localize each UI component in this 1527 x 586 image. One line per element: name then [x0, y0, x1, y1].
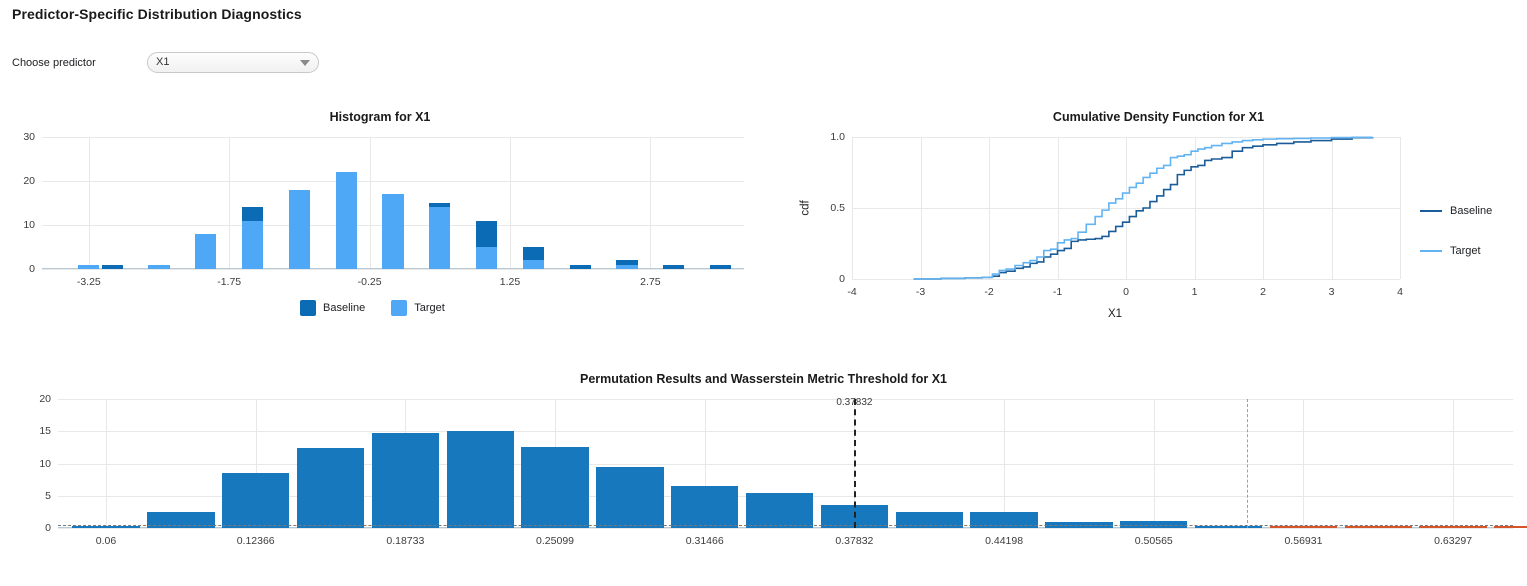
permutation-bar — [521, 447, 588, 528]
permutation-bar — [596, 467, 663, 528]
permutation-bar — [1195, 526, 1262, 528]
permutation-bar — [372, 433, 439, 528]
permutation-plot-area: 051015200.060.123660.187330.250990.31466… — [58, 399, 1513, 528]
histogram-legend-item: Baseline — [300, 300, 365, 316]
predictor-label: Choose predictor — [12, 57, 147, 69]
histogram-bar — [663, 265, 684, 269]
permutation-bar — [1494, 526, 1527, 528]
histogram-vgridline — [510, 137, 511, 269]
histogram-bar — [289, 190, 310, 269]
histogram-legend-label: Target — [414, 302, 445, 314]
diagnostics-page: Predictor-Specific Distribution Diagnost… — [0, 0, 1527, 586]
cdf-legend-item: Target — [1420, 245, 1492, 257]
cdf-y-tick: 0.5 — [830, 202, 845, 214]
predictor-select[interactable]: X1 — [147, 52, 319, 73]
cdf-vgridline — [1400, 137, 1401, 279]
histogram-bar — [476, 247, 497, 269]
permutation-y-tick: 5 — [45, 490, 51, 502]
permutation-bar — [447, 431, 514, 528]
permutation-vgridline — [1154, 399, 1155, 528]
histogram-x-tick: 2.75 — [640, 276, 660, 288]
permutation-bar — [671, 486, 738, 528]
permutation-x-tick: 0.18733 — [386, 535, 424, 547]
cdf-x-tick: -1 — [1053, 286, 1062, 298]
cdf-x-tick: 4 — [1397, 286, 1403, 298]
cdf-chart: Cumulative Density Function for X1 00.51… — [790, 110, 1527, 330]
permutation-threshold-label: 0.37832 — [836, 397, 872, 408]
permutation-x-tick: 0.12366 — [237, 535, 275, 547]
permutation-threshold-line — [854, 399, 856, 528]
cdf-x-tick: 0 — [1123, 286, 1129, 298]
cdf-lines — [852, 137, 1400, 279]
histogram-legend-label: Baseline — [323, 302, 365, 314]
cdf-legend-item: Baseline — [1420, 205, 1492, 217]
permutation-y-tick: 0 — [45, 522, 51, 534]
histogram-vgridline — [229, 137, 230, 269]
cdf-y-tick: 0 — [839, 273, 845, 285]
cdf-legend: BaselineTarget — [1420, 205, 1492, 285]
legend-color-line — [1420, 250, 1442, 252]
page-title: Predictor-Specific Distribution Diagnost… — [12, 6, 302, 22]
permutation-bar — [1419, 526, 1486, 528]
histogram-legend-item: Target — [391, 300, 445, 316]
permutation-bar — [1345, 526, 1412, 528]
permutation-gridline — [58, 399, 1513, 400]
histogram-bar — [242, 221, 263, 269]
cdf-x-tick: 3 — [1329, 286, 1335, 298]
histogram-bar — [429, 207, 450, 269]
permutation-vgridline — [106, 399, 107, 528]
cdf-y-axis-label: cdf — [800, 200, 812, 215]
histogram-bar — [336, 172, 357, 269]
permutation-x-tick: 0.50565 — [1135, 535, 1173, 547]
histogram-gridline — [42, 181, 744, 182]
cdf-x-tick: -3 — [916, 286, 925, 298]
permutation-x-tick: 0.31466 — [686, 535, 724, 547]
histogram-y-tick: 20 — [23, 175, 35, 187]
histogram-x-tick: -1.75 — [217, 276, 241, 288]
histogram-y-tick: 30 — [23, 131, 35, 143]
cdf-y-tick: 1.0 — [830, 131, 845, 143]
permutation-chart: Permutation Results and Wasserstein Metr… — [0, 372, 1527, 586]
predictor-select-value: X1 — [156, 57, 294, 68]
histogram-title: Histogram for X1 — [0, 110, 760, 124]
cdf-x-axis-label: X1 — [1108, 308, 1122, 320]
permutation-gridline — [58, 464, 1513, 465]
permutation-gridline — [58, 528, 1513, 529]
permutation-vgridline — [1004, 399, 1005, 528]
permutation-bar — [222, 473, 289, 528]
histogram-bar — [78, 265, 99, 269]
histogram-gridline — [42, 269, 744, 270]
histogram-vgridline — [650, 137, 651, 269]
permutation-y-tick: 10 — [39, 458, 51, 470]
histogram-bar — [523, 260, 544, 269]
cdf-x-tick: 2 — [1260, 286, 1266, 298]
legend-color-swatch — [300, 300, 316, 316]
histogram-y-tick: 0 — [29, 263, 35, 275]
chevron-down-icon — [300, 60, 310, 66]
histogram-x-tick: -0.25 — [358, 276, 382, 288]
cdf-legend-label: Baseline — [1450, 205, 1492, 217]
histogram-vgridline — [89, 137, 90, 269]
histogram-bar — [616, 265, 637, 269]
histogram-bar — [382, 194, 403, 269]
cdf-x-tick: -4 — [847, 286, 856, 298]
permutation-vgridline — [1303, 399, 1304, 528]
permutation-vgridline — [1453, 399, 1454, 528]
permutation-x-tick: 0.37832 — [835, 535, 873, 547]
permutation-x-tick: 0.44198 — [985, 535, 1023, 547]
cdf-plot-area: 00.51.0-4-3-2-101234 — [852, 137, 1400, 279]
cdf-series-line — [914, 137, 1373, 279]
permutation-bar — [72, 526, 139, 528]
permutation-x-tick: 0.25099 — [536, 535, 574, 547]
permutation-bar — [297, 448, 364, 528]
permutation-x-tick: 0.63297 — [1434, 535, 1472, 547]
histogram-y-tick: 10 — [23, 219, 35, 231]
histogram-bar — [710, 265, 731, 269]
histogram-x-tick: 1.25 — [500, 276, 520, 288]
legend-color-swatch — [391, 300, 407, 316]
histogram-vgridline — [370, 137, 371, 269]
permutation-title: Permutation Results and Wasserstein Metr… — [0, 372, 1527, 386]
permutation-bar — [746, 493, 813, 528]
cdf-legend-label: Target — [1450, 245, 1481, 257]
permutation-x-tick: 0.56931 — [1284, 535, 1322, 547]
histogram-gridline — [42, 137, 744, 138]
permutation-y-tick: 20 — [39, 393, 51, 405]
cdf-title: Cumulative Density Function for X1 — [790, 110, 1527, 124]
cdf-x-tick: -2 — [984, 286, 993, 298]
permutation-x-tick: 0.06 — [96, 535, 116, 547]
cdf-x-tick: 1 — [1192, 286, 1198, 298]
legend-color-line — [1420, 210, 1442, 212]
permutation-bar — [1270, 526, 1337, 528]
histogram-chart: Histogram for X1 0102030-3.25-1.75-0.251… — [0, 110, 760, 310]
permutation-gridline — [58, 431, 1513, 432]
histogram-bar — [148, 265, 169, 269]
histogram-bar — [570, 265, 591, 269]
predictor-control-row: Choose predictor X1 — [12, 52, 319, 73]
histogram-bar — [102, 265, 123, 269]
histogram-bar — [195, 234, 216, 269]
permutation-baseline-dotted-line — [58, 525, 1513, 526]
histogram-x-tick: -3.25 — [77, 276, 101, 288]
permutation-y-tick: 15 — [39, 425, 51, 437]
histogram-legend: BaselineTarget — [300, 300, 445, 316]
histogram-plot-area: 0102030-3.25-1.75-0.251.252.75 — [42, 137, 744, 269]
permutation-secondary-marker — [1247, 399, 1248, 528]
